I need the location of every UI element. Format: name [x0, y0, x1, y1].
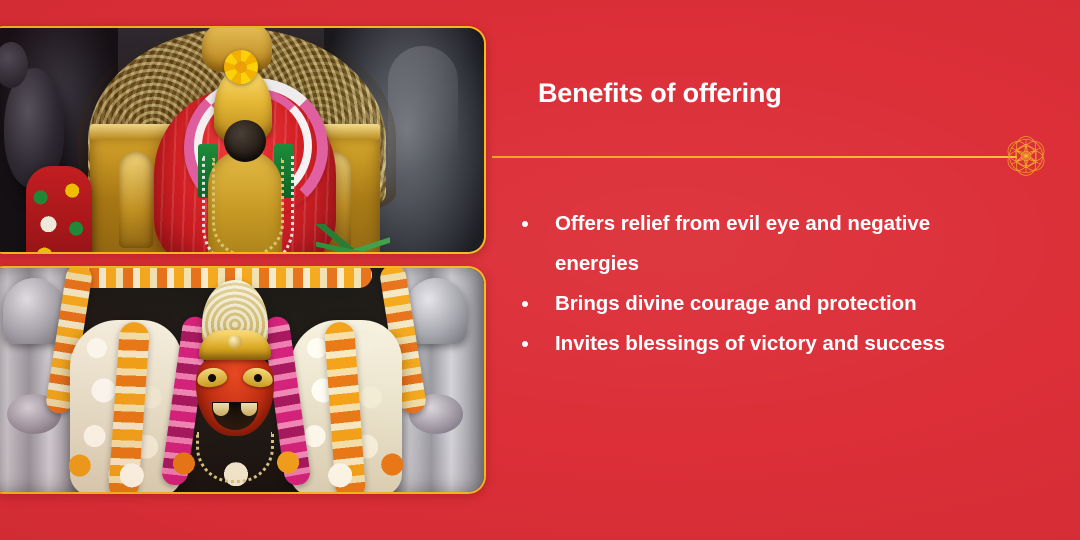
- image-bottom-inner: [0, 268, 484, 492]
- list-item-text: Offers relief from evil eye and negative…: [555, 212, 930, 275]
- bullet-dot-icon: [522, 221, 528, 227]
- page-title: Benefits of offering: [538, 78, 782, 109]
- benefits-list: Offers relief from evil eye and negative…: [520, 204, 990, 364]
- image-top-inner: [0, 28, 484, 252]
- yellow-flower-icon: [224, 50, 258, 84]
- list-item: Brings divine courage and protection: [520, 284, 990, 324]
- bullet-dot-icon: [522, 301, 528, 307]
- green-leaves: [316, 224, 390, 252]
- bullet-dot-icon: [522, 341, 528, 347]
- slide-canvas: Benefits of offering Offers relief from …: [0, 0, 1080, 540]
- image-temple-goddess-idol: [0, 26, 486, 254]
- content-panel: Benefits of offering Offers relief from …: [492, 0, 1080, 540]
- list-item-text: Invites blessings of victory and success: [555, 332, 945, 355]
- image-temple-deity-garlands: [0, 266, 486, 494]
- gold-necklace: [212, 158, 284, 252]
- flower-bundle: [26, 166, 92, 252]
- list-item: Invites blessings of victory and success: [520, 324, 990, 364]
- title-divider: [492, 156, 1017, 158]
- mandala-rosette-icon: [1003, 133, 1049, 179]
- deity-crown: [199, 330, 271, 360]
- list-item: Offers relief from evil eye and negative…: [520, 204, 990, 284]
- list-item-text: Brings divine courage and protection: [555, 292, 917, 315]
